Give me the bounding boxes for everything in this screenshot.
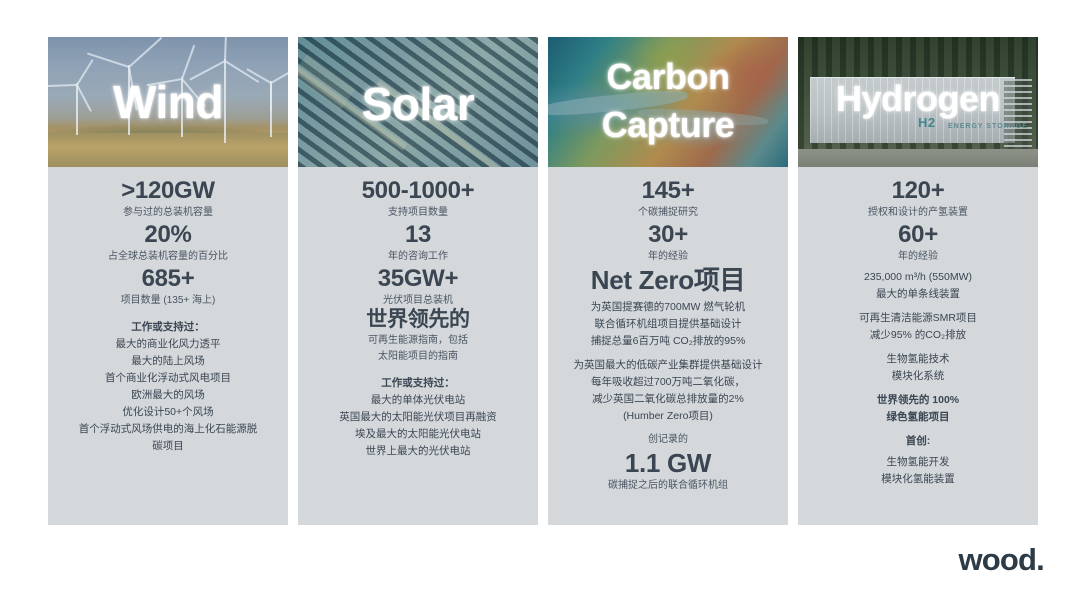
stat-caption: 光伏项目总装机 — [308, 294, 528, 309]
list-item: 首个浮动式风场供电的海上化石能源脱 — [58, 421, 278, 438]
bold-line: 绿色氢能项目 — [808, 409, 1028, 426]
card-body-carbon: 145+ 个碳捕捉研究 30+ 年的经验 Net Zero项目 为英国提赛德的7… — [548, 167, 788, 525]
hero-title-solar: Solar — [298, 81, 538, 127]
turbine-blade-icon — [181, 45, 195, 80]
spacer — [58, 308, 278, 319]
detail-line: 捕捉总量6百万吨 CO₂排放的95% — [558, 333, 778, 350]
wood-logo: wood. — [958, 544, 1044, 575]
section-heading: 首创: — [808, 433, 1028, 450]
highlight-value: 世界领先的 — [308, 308, 528, 333]
highlight-value: Net Zero项目 — [558, 265, 778, 296]
stat-value: 685+ — [58, 265, 278, 293]
stat-value: 500-1000+ — [308, 177, 528, 205]
detail-line: 每年吸收超过700万吨二氧化碳， — [558, 374, 778, 391]
card-solar[interactable]: Solar 500-1000+ 支持项目数量 13 年的咨询工作 35GW+ 光… — [298, 37, 538, 525]
slide-root: Wind >120GW 参与过的总装机容量 20% 占全球总装机容量的百分比 6… — [0, 0, 1080, 603]
section-heading: 工作或支持过： — [308, 375, 528, 392]
stat-caption: 参与过的总装机容量 — [58, 206, 278, 221]
spacer — [808, 303, 1028, 310]
stat-caption: 授权和设计的产氢装置 — [808, 206, 1028, 221]
stat-caption: 年的经验 — [558, 250, 778, 265]
record-value: 1.1 GW — [558, 448, 778, 479]
list-item: 模块化氢能装置 — [808, 471, 1028, 488]
hero-hydrogen-ground — [798, 149, 1038, 167]
list-item: 世界上最大的光伏电站 — [308, 443, 528, 460]
stat-value: 20% — [58, 221, 278, 249]
cards-row: Wind >120GW 参与过的总装机容量 20% 占全球总装机容量的百分比 6… — [48, 37, 1040, 525]
card-carbon-capture[interactable]: Carbon Capture 145+ 个碳捕捉研究 30+ 年的经验 Net … — [548, 37, 788, 525]
card-wind[interactable]: Wind >120GW 参与过的总装机容量 20% 占全球总装机容量的百分比 6… — [48, 37, 288, 525]
detail-line: 可再生清洁能源SMR项目 — [808, 310, 1028, 327]
hero-wind-image: Wind — [48, 37, 288, 167]
highlight-caption-line: 太阳能项目的指南 — [308, 350, 528, 365]
card-hydrogen[interactable]: H2 ENERGY STORAGE Hydrogen 120+ 授权和设计的产氢… — [798, 37, 1038, 525]
spacer — [558, 425, 778, 432]
hero-carbon-image: Carbon Capture — [548, 37, 788, 167]
detail-line: 联合循环机组项目提供基础设计 — [558, 316, 778, 333]
spacer — [808, 385, 1028, 392]
spacer — [308, 364, 528, 375]
hero-wind-ground — [48, 133, 288, 167]
detail-line: (Humber Zero项目) — [558, 408, 778, 425]
list-item: 生物氢能开发 — [808, 454, 1028, 471]
list-item: 首个商业化浮动式风电项目 — [58, 370, 278, 387]
stat-caption: 支持项目数量 — [308, 206, 528, 221]
list-item: 欧洲最大的风场 — [58, 387, 278, 404]
list-item: 埃及最大的太阳能光伏电站 — [308, 426, 528, 443]
stat-caption: 年的咨询工作 — [308, 250, 528, 265]
spacer — [808, 426, 1028, 433]
stat-value: 60+ — [808, 221, 1028, 249]
turbine-blade-icon — [128, 37, 162, 68]
spacer — [808, 344, 1028, 351]
stat-caption: 占全球总装机容量的百分比 — [58, 250, 278, 265]
stat-value: 35GW+ — [308, 265, 528, 293]
list-item: 最大的单体光伏电站 — [308, 392, 528, 409]
list-item: 优化设计50+个风场 — [58, 404, 278, 421]
stat-caption: 项目数量 (135+ 海上) — [58, 294, 278, 309]
card-body-solar: 500-1000+ 支持项目数量 13 年的咨询工作 35GW+ 光伏项目总装机… — [298, 167, 538, 525]
hero-title-wind: Wind — [48, 79, 288, 125]
card-body-wind: >120GW 参与过的总装机容量 20% 占全球总装机容量的百分比 685+ 项… — [48, 167, 288, 525]
detail-line: 模块化系统 — [808, 368, 1028, 385]
hero-title-carbon-line2: Capture — [548, 107, 788, 143]
detail-line: 生物氢能技术 — [808, 351, 1028, 368]
hero-hydrogen-image: H2 ENERGY STORAGE Hydrogen — [798, 37, 1038, 167]
turbine-blade-icon — [224, 37, 227, 61]
spacer — [558, 350, 778, 357]
detail-line: 减少95% 的CO₂排放 — [808, 327, 1028, 344]
stat-caption: 年的经验 — [808, 250, 1028, 265]
detail-line: 为英国提赛德的700MW 燃气轮机 — [558, 299, 778, 316]
list-item: 英国最大的太阳能光伏项目再融资 — [308, 409, 528, 426]
list-item: 碳项目 — [58, 438, 278, 455]
stat-caption: 个碳捕捉研究 — [558, 206, 778, 221]
hero-title-hydrogen: Hydrogen — [798, 81, 1038, 117]
stat-value: >120GW — [58, 177, 278, 205]
detail-line: 235,000 m³/h (550MW) — [808, 269, 1028, 286]
card-body-hydrogen: 120+ 授权和设计的产氢装置 60+ 年的经验 235,000 m³/h (5… — [798, 167, 1038, 525]
stat-value: 145+ — [558, 177, 778, 205]
detail-line: 减少英国二氧化碳总排放量的2% — [558, 391, 778, 408]
bold-line: 世界领先的 100% — [808, 392, 1028, 409]
hero-title-carbon-line1: Carbon — [548, 59, 788, 95]
list-item: 最大的陆上风场 — [58, 353, 278, 370]
highlight-caption-line: 可再生能源指南，包括 — [308, 334, 528, 349]
stat-value: 13 — [308, 221, 528, 249]
stat-value: 120+ — [808, 177, 1028, 205]
record-sub: 碳捕捉之后的联合循环机组 — [558, 479, 778, 494]
detail-line: 最大的单条线装置 — [808, 286, 1028, 303]
list-item: 最大的商业化风力透平 — [58, 336, 278, 353]
record-caption: 创记录的 — [558, 433, 778, 448]
h2-storage-label: ENERGY STORAGE — [948, 123, 1028, 130]
hero-solar-image: Solar — [298, 37, 538, 167]
stat-value: 30+ — [558, 221, 778, 249]
section-heading: 工作或支持过： — [58, 319, 278, 336]
detail-line: 为英国最大的低碳产业集群提供基础设计 — [558, 357, 778, 374]
